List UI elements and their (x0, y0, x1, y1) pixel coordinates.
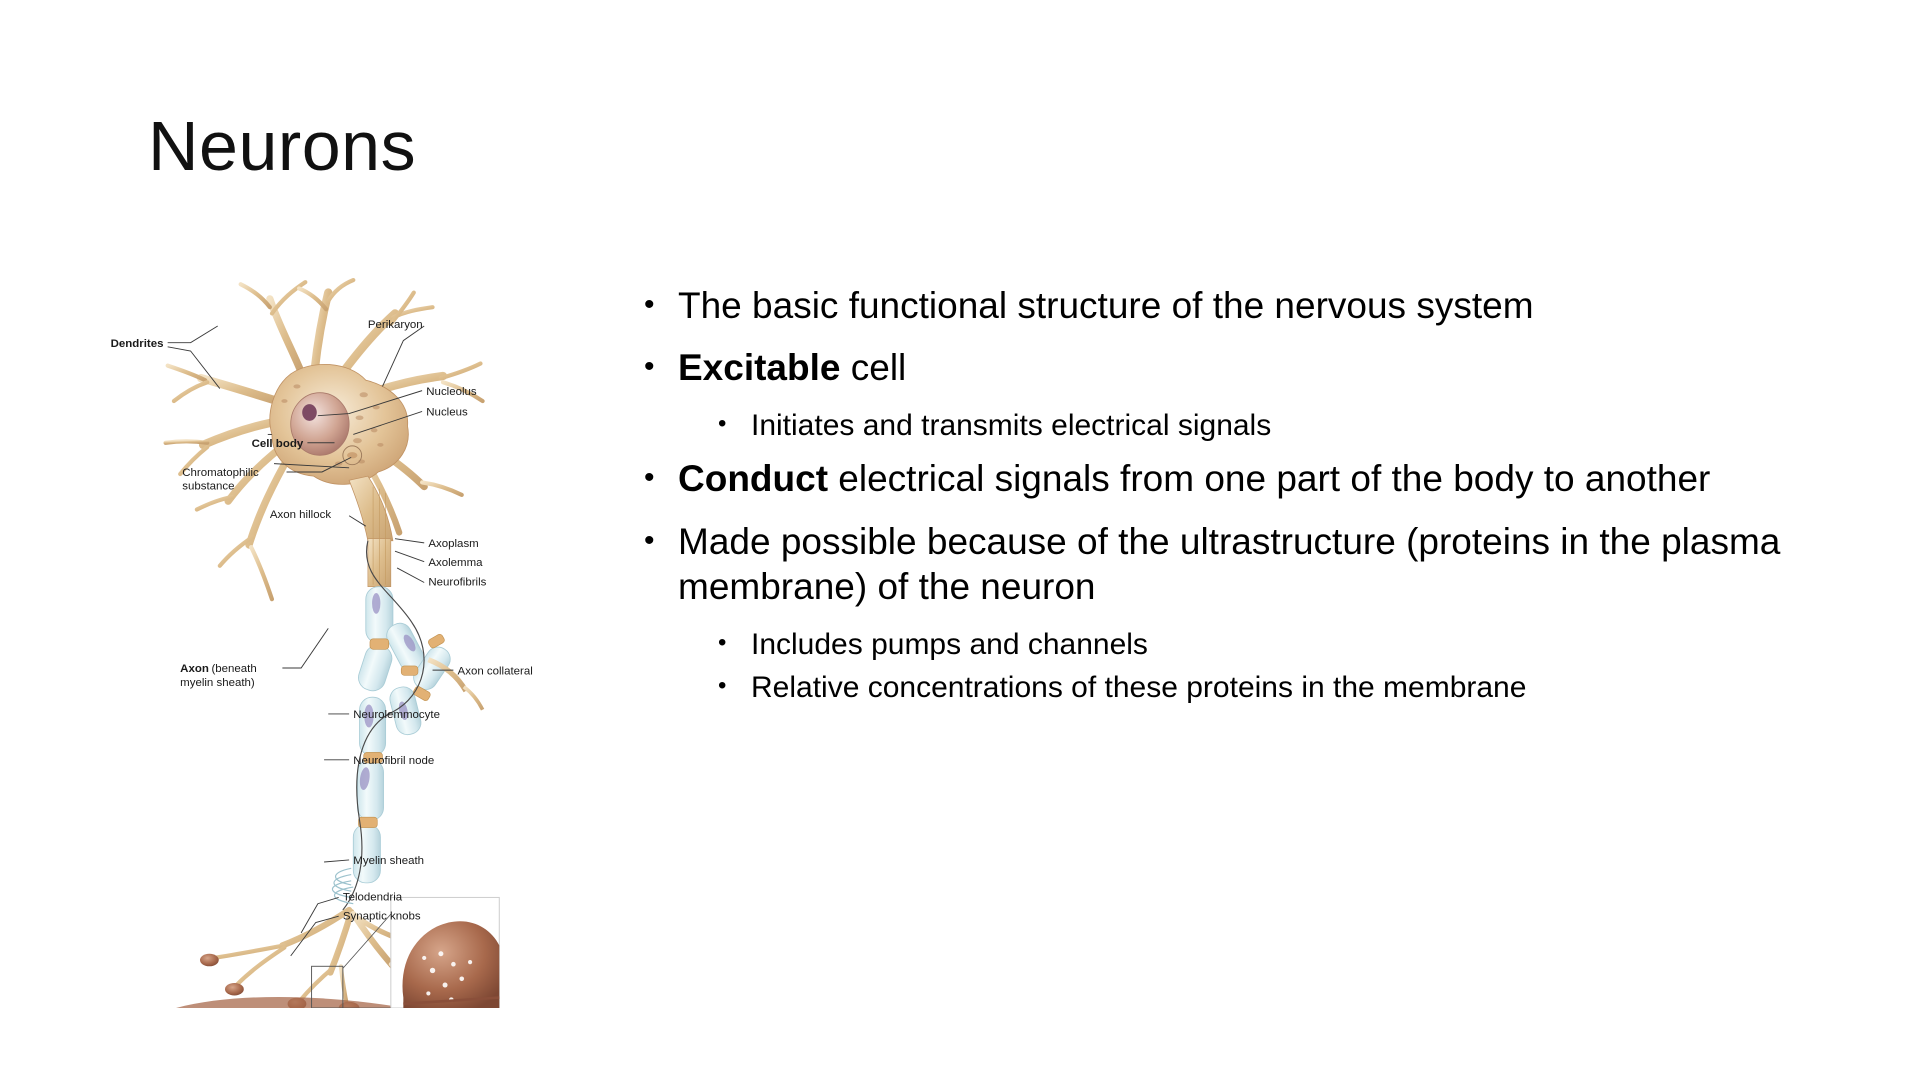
bullet-marker-icon: • (644, 345, 655, 389)
figure-label-myelin-sheath-paren: myelin sheath) (180, 677, 255, 689)
bullet-text: electrical signals from one part of the … (828, 458, 1710, 499)
bullet-item-level-2: •Relative concentrations of these protei… (636, 669, 1860, 706)
figure-label-telodendria: Telodendria (343, 892, 403, 904)
bullet-marker-icon: • (644, 456, 655, 500)
figure-label-dendrites: Dendrites (111, 338, 164, 350)
bullet-marker-icon: • (644, 283, 655, 327)
bullet-marker-icon: • (718, 626, 726, 661)
figure-label-chromatophilic-1: Chromatophilic (182, 467, 259, 479)
figure-label-myelin-sheath: Myelin sheath (353, 855, 424, 867)
bullet-marker-icon: • (644, 519, 655, 563)
bullet-text: Made possible because of the ultrastruct… (678, 521, 1780, 607)
cell-body-shape (270, 364, 408, 484)
bullet-marker-icon: • (718, 669, 726, 704)
figure-label-axolemma: Axolemma (428, 557, 483, 569)
figure-label-perikaryon: Perikaryon (368, 319, 423, 331)
effector-band-shape (176, 997, 405, 1008)
bullet-item-level-2: •Includes pumps and channels (636, 626, 1860, 663)
bullet-text-emphasis: Conduct (678, 458, 828, 499)
bullet-text-wrapper: Relative concentrations of these protein… (751, 671, 1526, 704)
bullet-marker-icon: • (718, 407, 726, 442)
bullet-text-emphasis: Excitable (678, 347, 840, 388)
bullet-text-wrapper: Excitable cell (678, 347, 906, 388)
bullet-text: cell (840, 347, 906, 388)
page-title: Neurons (148, 110, 416, 184)
bullet-item-level-2: •Initiates and transmits electrical sign… (636, 407, 1860, 444)
bullet-text: Relative concentrations of these protein… (751, 671, 1526, 704)
bullet-item-level-1: •Conduct electrical signals from one par… (636, 456, 1860, 501)
figure-label-axon: Axon (180, 663, 209, 675)
figure-label-neurofibrils: Neurofibrils (428, 577, 486, 589)
bullet-text-wrapper: Initiates and transmits electrical signa… (751, 409, 1271, 442)
bullet-text-wrapper: Conduct electrical signals from one part… (678, 458, 1710, 499)
figure-label-chromatophilic-2: substance (182, 481, 234, 493)
figure-label-axon-collateral: Axon collateral (458, 665, 533, 677)
figure-label-axon-hillock: Axon hillock (270, 509, 331, 521)
bullet-text: Initiates and transmits electrical signa… (751, 409, 1271, 442)
bullet-text-wrapper: The basic functional structure of the ne… (678, 285, 1534, 326)
bullet-item-level-1: •Excitable cell (636, 345, 1860, 390)
bullet-item-level-1: •The basic functional structure of the n… (636, 283, 1860, 328)
figure-label-nucleolus: Nucleolus (426, 386, 477, 398)
figure-label-neurolemmocyte: Neurolemmocyte (353, 709, 440, 721)
figure-label-cell-body: Cell body (252, 438, 304, 450)
slide-canvas: Neurons (0, 0, 1920, 1080)
bullet-text-wrapper: Made possible because of the ultrastruct… (678, 521, 1780, 607)
bullet-item-level-1: •Made possible because of the ultrastruc… (636, 519, 1860, 609)
neuron-diagram-image: Dendrites Perikaryon Nucleolus Nucleus C… (92, 278, 552, 1008)
figure-label-nucleus: Nucleus (426, 407, 468, 419)
slide-body-content: •The basic functional structure of the n… (636, 283, 1860, 718)
figure-label-synaptic-knobs: Synaptic knobs (343, 910, 421, 922)
bullet-text: The basic functional structure of the ne… (678, 285, 1534, 326)
sub-bullet-list: •Includes pumps and channels•Relative co… (636, 626, 1860, 706)
bullet-text: Includes pumps and channels (751, 628, 1148, 661)
figure-label-axoplasm: Axoplasm (428, 538, 478, 550)
sub-bullet-list: •Initiates and transmits electrical sign… (636, 407, 1860, 444)
bullet-text-wrapper: Includes pumps and channels (751, 628, 1148, 661)
figure-label-neurofibril-node: Neurofibril node (353, 755, 434, 767)
figure-label-axon-beneath: (beneath (211, 663, 256, 675)
